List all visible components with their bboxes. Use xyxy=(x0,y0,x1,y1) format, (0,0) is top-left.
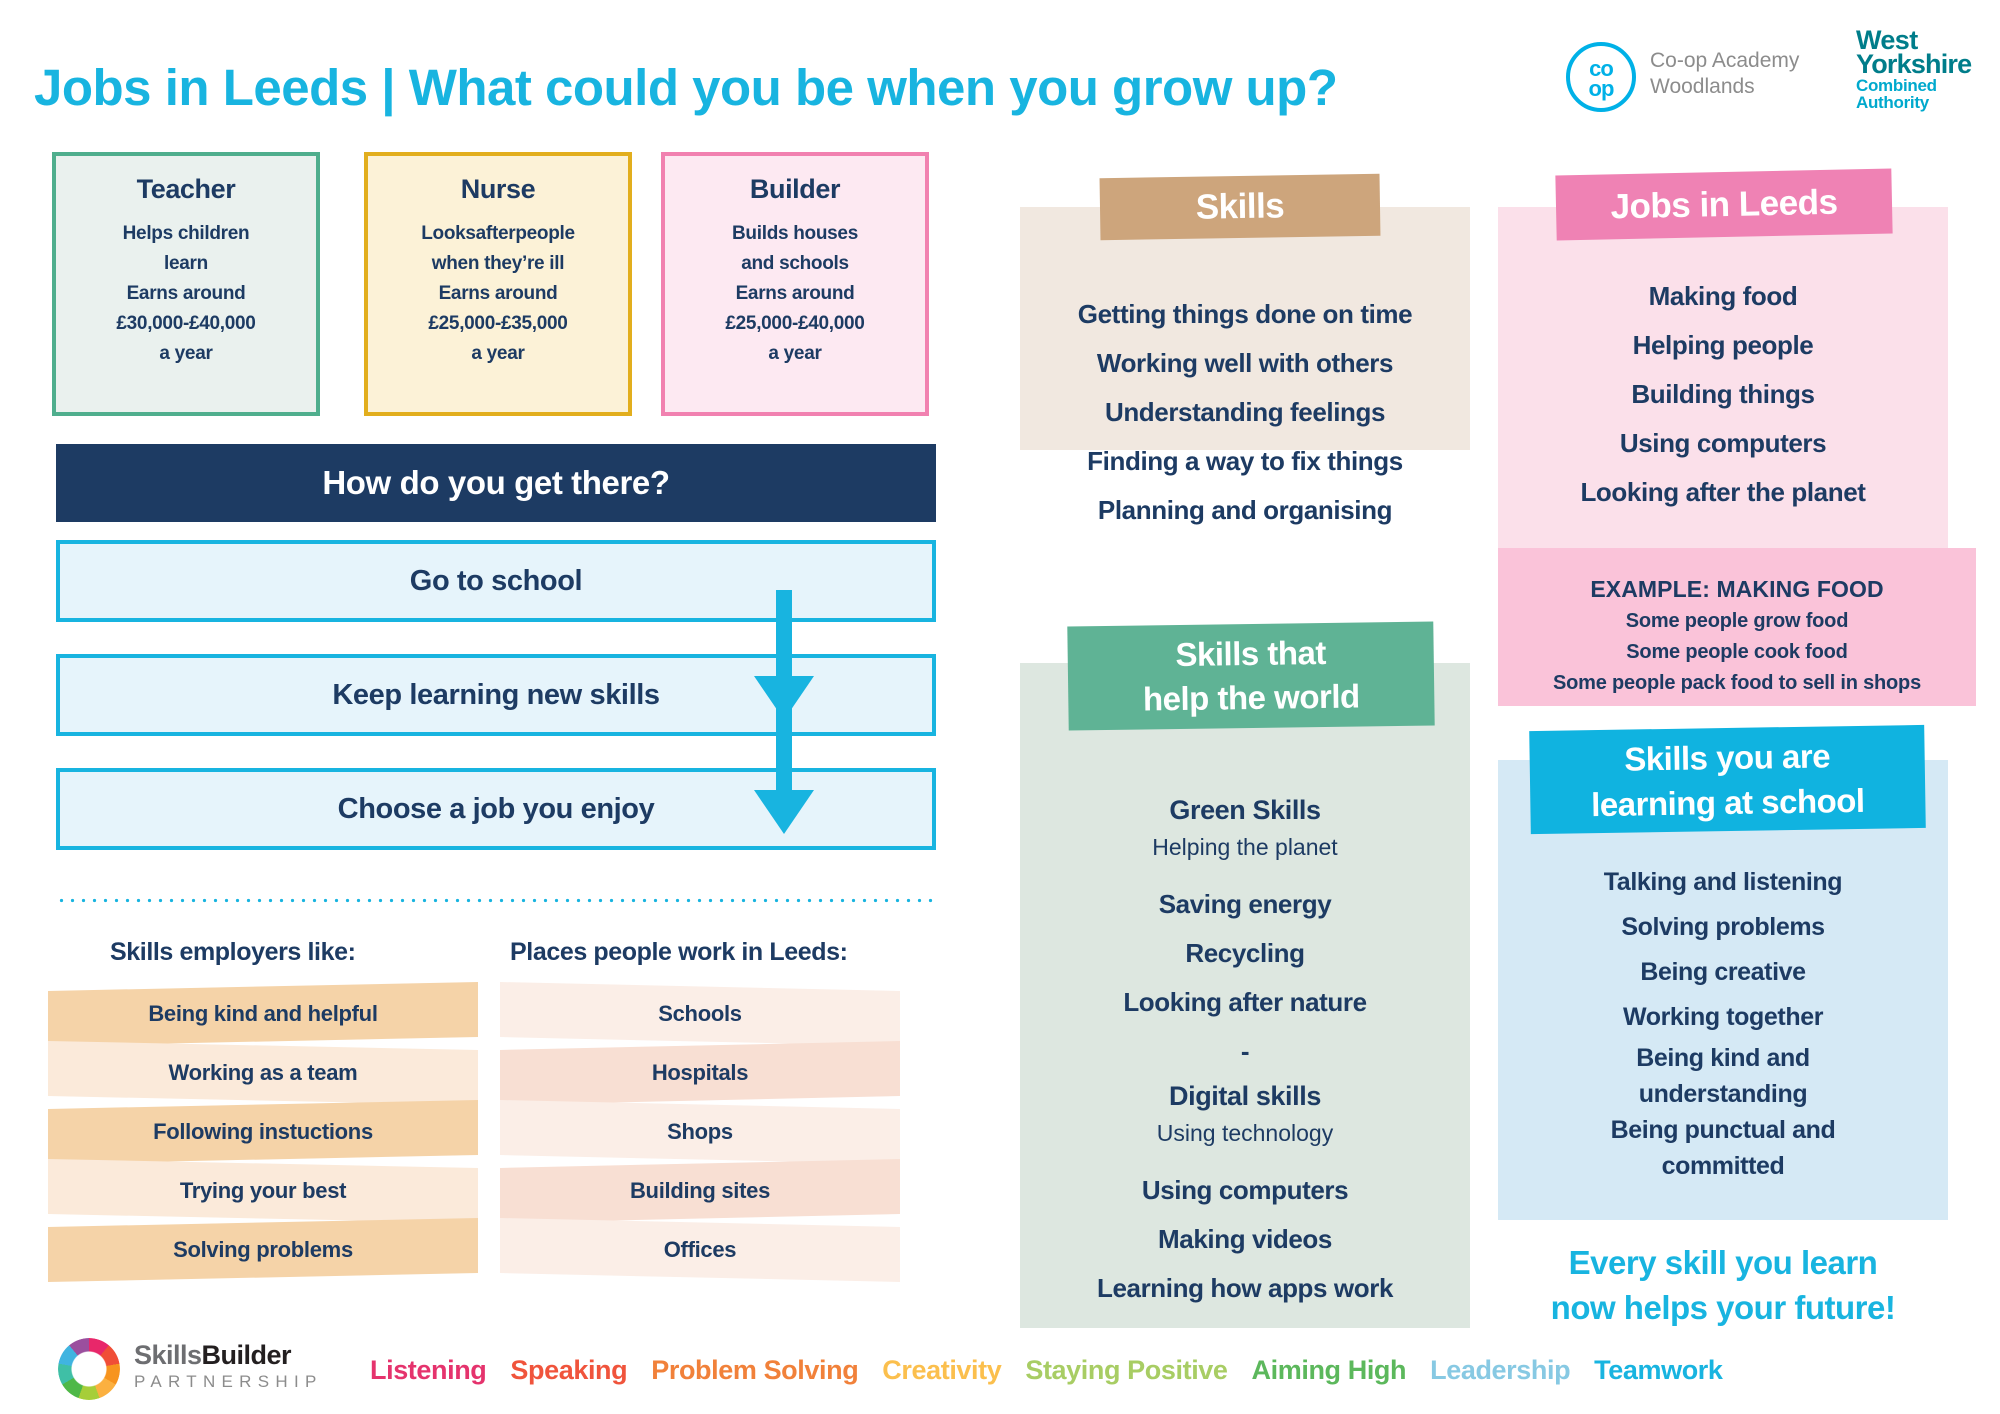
jobs-in-leeds-panel-badge: Jobs in Leeds xyxy=(1555,168,1892,240)
list-item: Being kind and understanding xyxy=(1498,1040,1948,1112)
list-item: Some people cook food xyxy=(1498,637,1976,668)
down-arrow-icon xyxy=(754,590,814,720)
logo-text-builder: Builder xyxy=(202,1340,292,1370)
job-card-earn-label: Earns around xyxy=(665,279,925,309)
list-item: Recycling xyxy=(1020,929,1470,978)
list-item: Being kind and helpful xyxy=(48,982,478,1046)
job-card-desc-1: Helps children xyxy=(56,219,316,249)
coop-circle-icon: co op xyxy=(1566,42,1636,112)
list-item: Planning and organising xyxy=(1020,486,1470,535)
list-item: Schools xyxy=(500,982,900,1046)
page-title: Jobs in Leeds | What could you be when y… xyxy=(34,58,1338,117)
list-item: Talking and listening xyxy=(1498,860,1948,905)
badge-line-2: learning at school xyxy=(1591,781,1865,822)
skills-builder-wordmark: SkillsBuilder PARTNERSHIP xyxy=(134,1340,323,1393)
list-item: Building sites xyxy=(500,1159,900,1223)
job-card-title: Teacher xyxy=(56,174,316,205)
skills-panel-badge: Skills xyxy=(1100,174,1381,240)
list-item: Understanding feelings xyxy=(1020,388,1470,437)
school-skills-panel-list: Talking and listening Solving problems B… xyxy=(1498,860,1948,1184)
footer-skill-listening: Listening xyxy=(370,1355,486,1386)
list-item: Saving energy xyxy=(1020,880,1470,929)
job-card-teacher: Teacher Helps children learn Earns aroun… xyxy=(52,152,320,416)
dotted-divider xyxy=(56,898,936,903)
job-card-earn-period: a year xyxy=(665,339,925,369)
list-item: Using computers xyxy=(1498,419,1948,468)
job-card-earn-label: Earns around xyxy=(56,279,316,309)
list-item: Making food xyxy=(1498,272,1948,321)
footer-skill-teamwork: Teamwork xyxy=(1594,1355,1722,1386)
job-card-earn-value: £30,000-£40,000 xyxy=(56,309,316,339)
job-card-earn-period: a year xyxy=(368,339,628,369)
job-card-title: Builder xyxy=(665,174,925,205)
list-item: Making videos xyxy=(1020,1215,1470,1264)
list-item: Trying your best xyxy=(48,1159,478,1223)
wyca-line-2: Yorkshire xyxy=(1856,52,1988,77)
job-card-builder: Builder Builds houses and schools Earns … xyxy=(661,152,929,416)
footer-skill-tags: Listening Speaking Problem Solving Creat… xyxy=(370,1348,1970,1392)
job-card-earn-period: a year xyxy=(56,339,316,369)
logo-text-skills: Skills xyxy=(134,1340,202,1370)
green-skills-title: Green Skills xyxy=(1020,790,1470,830)
list-item: Some people grow food xyxy=(1498,606,1976,637)
green-skills-note: Helping the planet xyxy=(1020,830,1470,864)
jobs-in-leeds-panel-list: Making food Helping people Building thin… xyxy=(1498,272,1948,517)
example-title: EXAMPLE: MAKING FOOD xyxy=(1498,572,1976,606)
wyca-line-3: Combined xyxy=(1856,77,1988,94)
list-item: Looking after the planet xyxy=(1498,468,1948,517)
list-item: Shops xyxy=(500,1100,900,1164)
badge-line-1: Skills that xyxy=(1175,634,1326,673)
places-work-heading: Places people work in Leeds: xyxy=(510,938,848,967)
school-skills-panel-badge: Skills you are learning at school xyxy=(1529,725,1926,834)
closing-line-1: Every skill you learn xyxy=(1498,1240,1948,1285)
job-card-desc-1: Looksafterpeople xyxy=(368,219,628,249)
list-item: Being punctual and committed xyxy=(1498,1112,1948,1184)
example-making-food-block: EXAMPLE: MAKING FOOD Some people grow fo… xyxy=(1498,572,1976,699)
list-item: Solving problems xyxy=(48,1218,478,1282)
west-yorkshire-combined-authority-logo: West Yorkshire Combined Authority xyxy=(1856,28,1988,118)
job-card-nurse: Nurse Looksafterpeople when they’re ill … xyxy=(364,152,632,416)
list-item: Working as a team xyxy=(48,1041,478,1105)
job-card-earn-label: Earns around xyxy=(368,279,628,309)
footer-skill-leadership: Leadership xyxy=(1430,1355,1570,1386)
list-item: Building things xyxy=(1498,370,1948,419)
infographic-page: Jobs in Leeds | What could you be when y… xyxy=(0,0,2000,1414)
job-card-title: Nurse xyxy=(368,174,628,205)
list-item: Solving problems xyxy=(1498,905,1948,950)
section-separator: - xyxy=(1020,1027,1470,1076)
list-item: Being creative xyxy=(1498,950,1948,995)
footer-skill-creativity: Creativity xyxy=(882,1355,1001,1386)
coop-mark-bottom: op xyxy=(1589,79,1614,98)
footer-skill-problem-solving: Problem Solving xyxy=(651,1355,858,1386)
skills-employers-heading: Skills employers like: xyxy=(110,938,356,967)
color-ring-icon xyxy=(58,1338,120,1400)
closing-message: Every skill you learn now helps your fut… xyxy=(1498,1240,1948,1330)
footer-skill-speaking: Speaking xyxy=(510,1355,627,1386)
world-skills-panel-badge: Skills that help the world xyxy=(1067,621,1434,730)
coop-academy-name: Co-op Academy Woodlands xyxy=(1650,48,1830,100)
list-item: Getting things done on time xyxy=(1020,290,1470,339)
coop-academy-logo: co op Co-op Academy Woodlands xyxy=(1566,38,1836,120)
logo-text-partnership: PARTNERSHIP xyxy=(134,1371,323,1393)
job-card-earn-value: £25,000-£40,000 xyxy=(665,309,925,339)
places-work-list: Schools Hospitals Shops Building sites O… xyxy=(500,982,930,1277)
skills-panel-list: Getting things done on time Working well… xyxy=(1020,290,1470,535)
list-item: Helping people xyxy=(1498,321,1948,370)
skills-builder-partnership-logo: SkillsBuilder PARTNERSHIP xyxy=(58,1334,318,1406)
list-item: Working together xyxy=(1498,995,1948,1040)
list-item: Looking after nature xyxy=(1020,978,1470,1027)
list-item: Hospitals xyxy=(500,1041,900,1105)
list-item: Learning how apps work xyxy=(1020,1264,1470,1313)
down-arrow-icon xyxy=(754,704,814,834)
world-skills-panel-list: Green Skills Helping the planet Saving e… xyxy=(1020,790,1470,1313)
list-item: Following instuctions xyxy=(48,1100,478,1164)
job-card-desc-2: and schools xyxy=(665,249,925,279)
job-card-desc-1: Builds houses xyxy=(665,219,925,249)
job-card-desc-2: when they’re ill xyxy=(368,249,628,279)
badge-line-1: Skills you are xyxy=(1624,737,1830,777)
skills-employers-list: Being kind and helpful Working as a team… xyxy=(48,982,478,1277)
list-item: Finding a way to fix things xyxy=(1020,437,1470,486)
job-card-desc-2: learn xyxy=(56,249,316,279)
footer-skill-aiming-high: Aiming High xyxy=(1252,1355,1407,1386)
list-item: Some people pack food to sell in shops xyxy=(1498,668,1976,699)
list-item: Working well with others xyxy=(1020,339,1470,388)
badge-line-2: help the world xyxy=(1143,677,1360,717)
how-to-get-there-banner: How do you get there? xyxy=(56,444,936,522)
list-item: Using computers xyxy=(1020,1166,1470,1215)
footer-skill-staying-positive: Staying Positive xyxy=(1025,1355,1227,1386)
list-item: Offices xyxy=(500,1218,900,1282)
job-card-earn-value: £25,000-£35,000 xyxy=(368,309,628,339)
digital-skills-note: Using technology xyxy=(1020,1116,1470,1150)
wyca-line-4: Authority xyxy=(1856,94,1988,111)
digital-skills-title: Digital skills xyxy=(1020,1076,1470,1116)
closing-line-2: now helps your future! xyxy=(1498,1285,1948,1330)
